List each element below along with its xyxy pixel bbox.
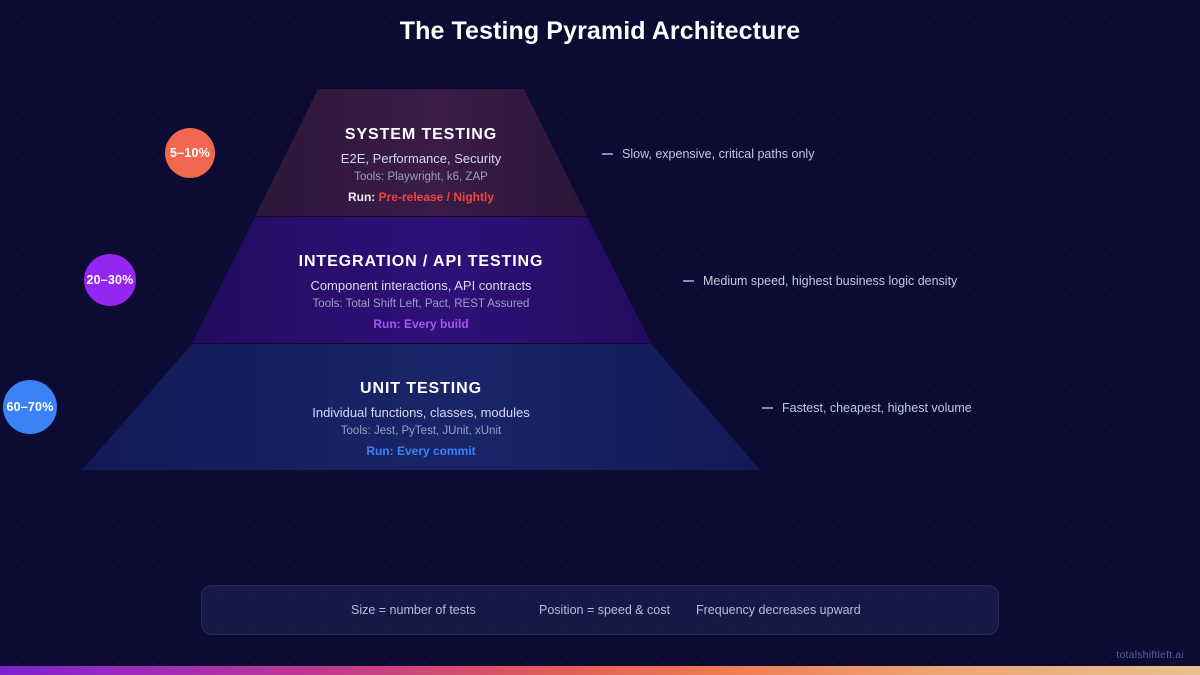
percentage-badge-integration: 20–30% <box>84 254 136 306</box>
annotation-system: Slow, expensive, critical paths only <box>602 147 814 161</box>
tier-heading-integration: INTEGRATION / API TESTING <box>211 253 631 271</box>
dash-icon <box>602 153 613 154</box>
legend-item-frequency: Frequency decreases upward <box>696 603 861 617</box>
annotation-text-system: Slow, expensive, critical paths only <box>622 147 814 161</box>
dash-icon <box>683 280 694 281</box>
tier-run-system: Run: Pre-release / Nightly <box>211 190 631 204</box>
tier-text-integration: INTEGRATION / API TESTING Component inte… <box>211 253 631 331</box>
tier-tools-system: Tools: Playwright, k6, ZAP <box>211 171 631 183</box>
annotation-integration: Medium speed, highest business logic den… <box>683 274 957 288</box>
tier-run-value-integration: Every build <box>404 317 469 331</box>
legend-item-position: Position = speed & cost <box>539 603 670 617</box>
tier-tools-integration: Tools: Total Shift Left, Pact, REST Assu… <box>211 298 631 310</box>
dash-icon <box>762 407 773 408</box>
watermark: totalshiftleft.ai <box>1116 649 1184 661</box>
tier-description-unit: Individual functions, classes, modules <box>211 405 631 420</box>
percentage-badge-unit: 60–70% <box>3 380 57 434</box>
annotation-text-unit: Fastest, cheapest, highest volume <box>782 401 972 415</box>
tier-heading-system: SYSTEM TESTING <box>211 126 631 144</box>
tier-text-system: SYSTEM TESTING E2E, Performance, Securit… <box>211 126 631 204</box>
tier-run-unit: Run: Every commit <box>211 444 631 458</box>
tier-run-label-system: Run: <box>348 190 379 204</box>
tier-heading-unit: UNIT TESTING <box>211 380 631 398</box>
tier-run-label-unit: Run: <box>366 444 397 458</box>
annotation-text-integration: Medium speed, highest business logic den… <box>703 274 957 288</box>
legend-item-size: Size = number of tests <box>351 603 476 617</box>
percentage-badge-system: 5–10% <box>165 128 215 178</box>
tier-description-integration: Component interactions, API contracts <box>211 278 631 293</box>
tier-tools-unit: Tools: Jest, PyTest, JUnit, xUnit <box>211 425 631 437</box>
testing-pyramid-diagram <box>0 0 1200 675</box>
annotation-unit: Fastest, cheapest, highest volume <box>762 401 972 415</box>
tier-run-value-unit: Every commit <box>397 444 476 458</box>
page-title: The Testing Pyramid Architecture <box>0 17 1200 46</box>
tier-run-value-system: Pre-release / Nightly <box>379 190 494 204</box>
tier-description-system: E2E, Performance, Security <box>211 151 631 166</box>
bottom-gradient-bar <box>0 666 1200 675</box>
tier-run-label-integration: Run: <box>373 317 404 331</box>
legend-card: Size = number of tests Position = speed … <box>201 585 999 635</box>
tier-run-integration: Run: Every build <box>211 317 631 331</box>
tier-text-unit: UNIT TESTING Individual functions, class… <box>211 380 631 458</box>
